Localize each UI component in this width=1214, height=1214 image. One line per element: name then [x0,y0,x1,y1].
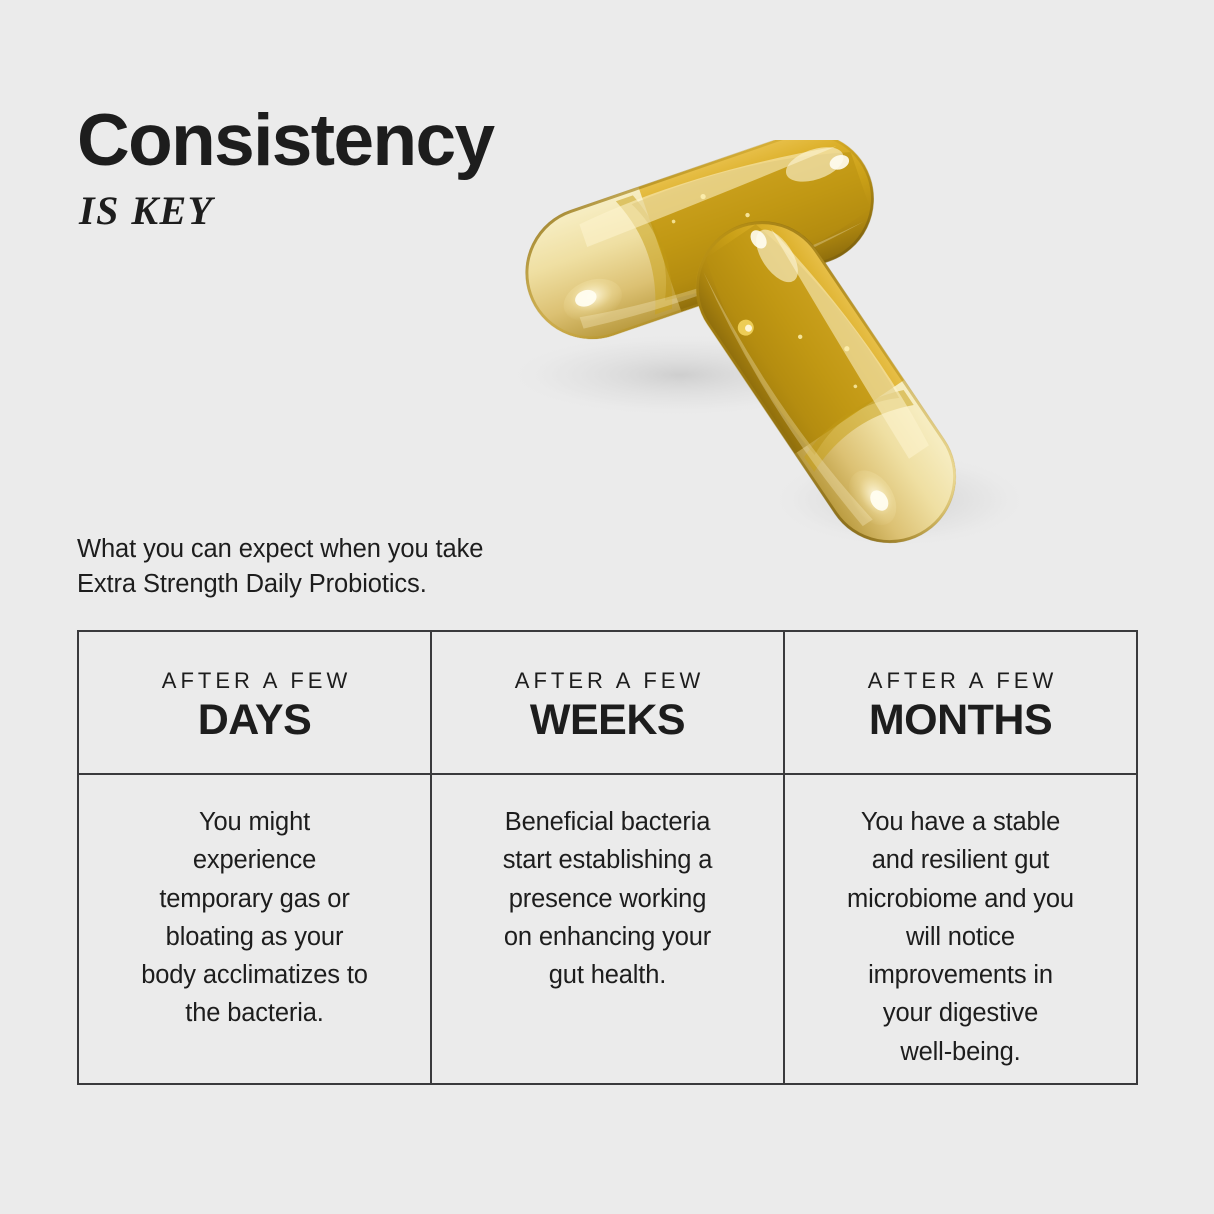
table-column-months-header: AFTER A FEW MONTHS [785,632,1136,773]
period-days: DAYS [198,698,312,743]
expectations-table: AFTER A FEW DAYS AFTER A FEW WEEKS AFTER… [77,630,1138,1085]
body-text-line: well-being. [809,1033,1112,1071]
table-column-days-body: You mightexperiencetemporary gas orbloat… [79,775,430,1083]
body-text-line: You have a stable [809,803,1112,841]
page-title: Consistency [77,104,493,177]
body-text-line: your digestive [809,994,1112,1032]
capsule-illustration [480,140,1160,560]
body-text-line: Beneficial bacteria [456,803,759,841]
promo-infographic: Consistency IS KEY [0,0,1214,1214]
kicker-months: AFTER A FEW [864,670,1057,692]
heading-block: Consistency IS KEY [77,104,493,231]
period-weeks: WEEKS [530,698,685,743]
body-text-line: microbiome and you [809,880,1112,918]
body-text-line: will notice [809,918,1112,956]
body-text-line: start establishing a [456,841,759,879]
gold-capsule-lower-right [671,196,982,560]
table-header-row: AFTER A FEW DAYS AFTER A FEW WEEKS AFTER… [79,632,1136,775]
intro-paragraph: What you can expect when you take Extra … [77,532,483,601]
body-text-line: and resilient gut [809,841,1112,879]
capsule-2-shadow [770,452,1030,548]
table-column-months-body: You have a stableand resilient gutmicrob… [785,775,1136,1083]
period-months: MONTHS [869,698,1052,743]
gold-capsule-upper-left [508,140,891,357]
body-text-line: improvements in [809,956,1112,994]
capsule-1-shadow [505,333,855,417]
table-column-weeks-header: AFTER A FEW WEEKS [430,632,785,773]
body-text-line: bloating as your [103,918,406,956]
body-text-line: presence working [456,880,759,918]
page-subtitle: IS KEY [79,191,493,231]
intro-line-1: What you can expect when you take [77,532,483,567]
table-column-weeks-body: Beneficial bacteriastart establishing ap… [430,775,785,1083]
body-text-months: You have a stableand resilient gutmicrob… [785,775,1136,1071]
body-text-days: You mightexperiencetemporary gas orbloat… [79,775,430,1033]
body-text-line: body acclimatizes to [103,956,406,994]
body-text-line: gut health. [456,956,759,994]
body-text-line: experience [103,841,406,879]
body-text-line: on enhancing your [456,918,759,956]
body-text-line: temporary gas or [103,880,406,918]
body-text-weeks: Beneficial bacteriastart establishing ap… [432,775,783,994]
body-text-line: You might [103,803,406,841]
table-column-days-header: AFTER A FEW DAYS [79,632,430,773]
intro-line-2: Extra Strength Daily Probiotics. [77,567,483,602]
body-text-line: the bacteria. [103,994,406,1032]
kicker-days: AFTER A FEW [158,670,351,692]
kicker-weeks: AFTER A FEW [511,670,704,692]
capsules-svg [480,140,1160,560]
table-body-row: You mightexperiencetemporary gas orbloat… [79,775,1136,1083]
